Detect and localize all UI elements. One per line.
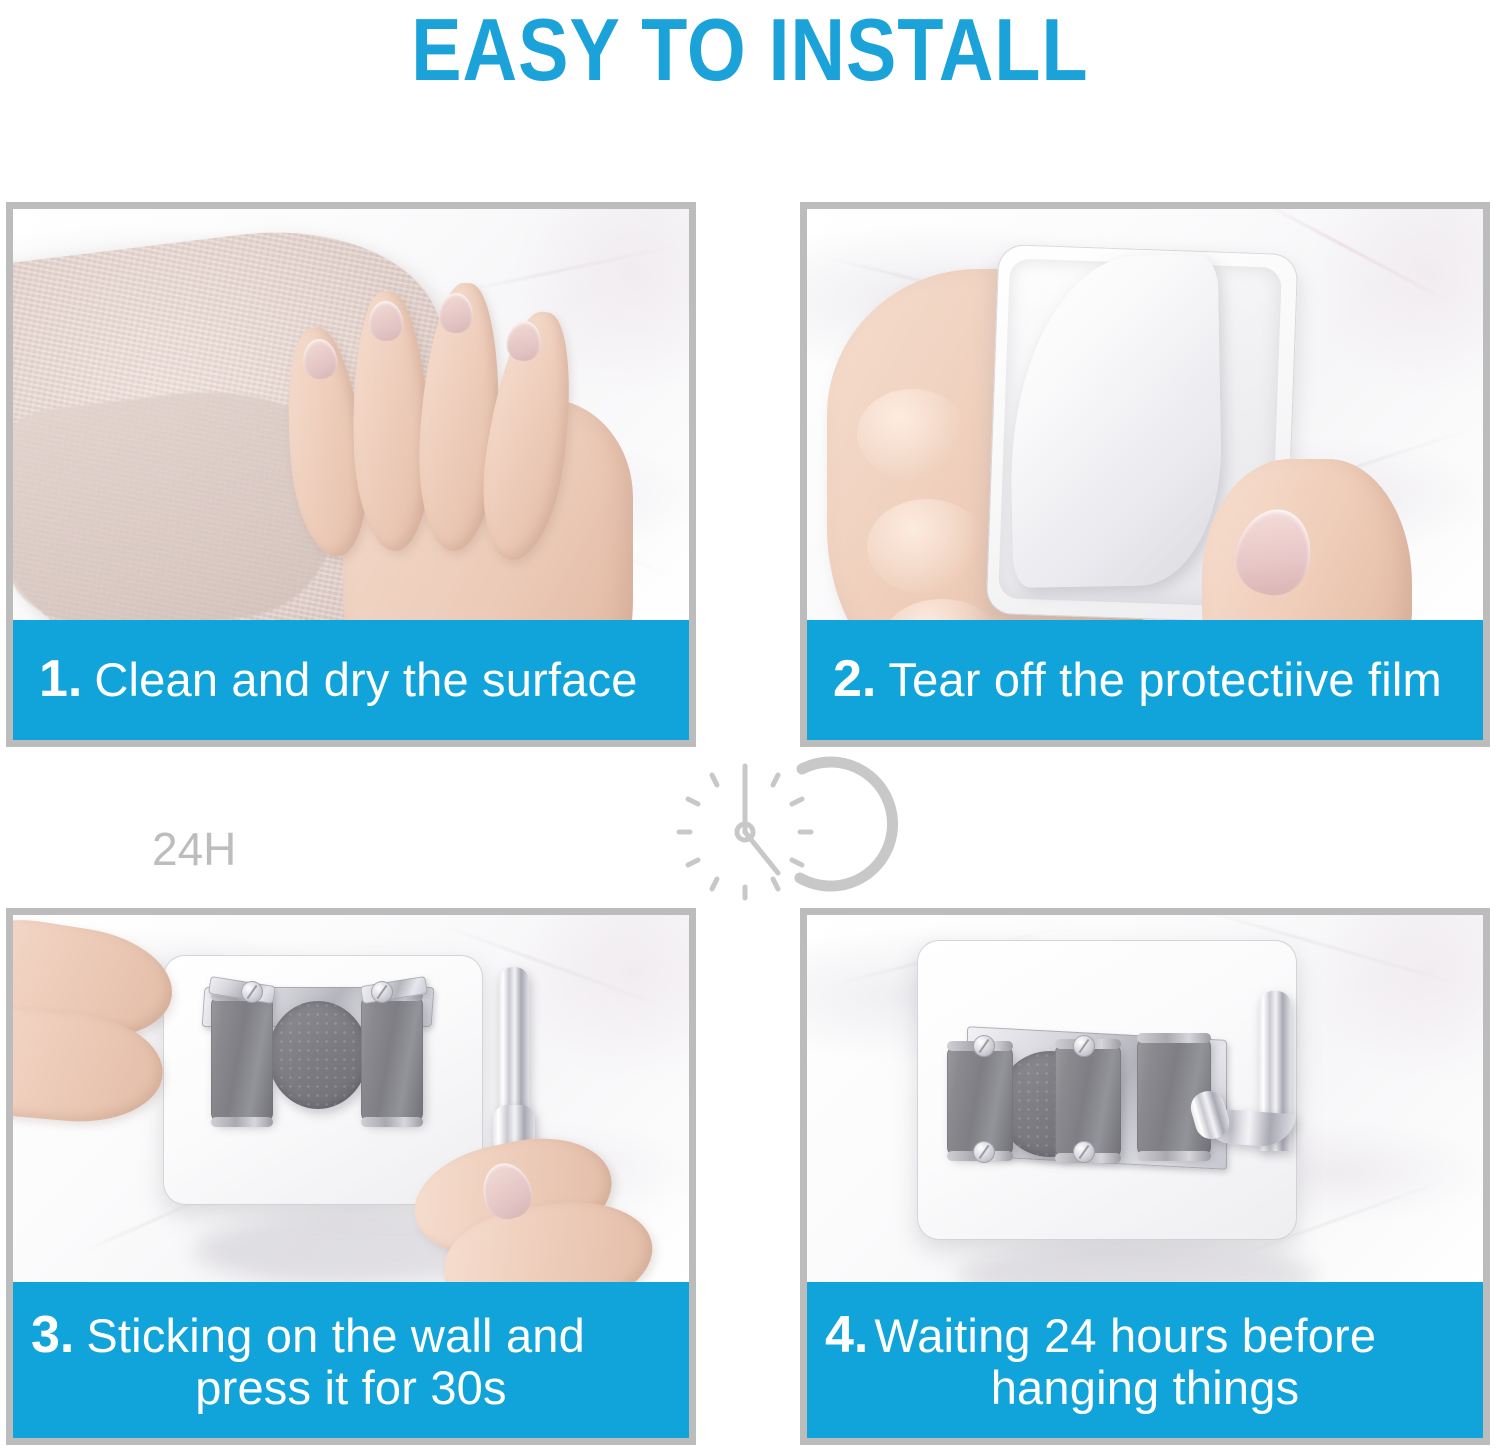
screw [973, 1035, 995, 1057]
step-4-image [807, 915, 1483, 1282]
step-1-image [13, 209, 689, 620]
knuckle [857, 389, 967, 479]
step-text: Clean and dry the surface [94, 655, 637, 705]
step-2-image [807, 209, 1483, 620]
clock-icon [650, 736, 900, 912]
step-3-image [13, 915, 689, 1282]
roller-cap [361, 1117, 423, 1127]
roller-cap [1137, 1033, 1211, 1043]
hand [193, 249, 633, 620]
screw [1073, 1141, 1095, 1163]
roller-right [361, 995, 423, 1123]
clock-duration-label: 24H [152, 822, 236, 876]
page-title-bar: EASY TO INSTALL [0, 0, 1500, 100]
step-text-line-2: press it for 30s [195, 1363, 506, 1413]
roller-left [211, 995, 273, 1123]
step-3-panel: 3. Sticking on the wall and press it for… [6, 908, 696, 1445]
step-number: 4. [825, 1308, 868, 1363]
step-2-caption: 2. Tear off the protectiive film [807, 620, 1483, 740]
knuckle [882, 599, 1002, 620]
screw [1073, 1035, 1095, 1057]
step-1-panel: 1. Clean and dry the surface [6, 202, 696, 747]
roller-cap [1137, 1151, 1211, 1161]
step-3-caption: 3. Sticking on the wall and press it for… [13, 1282, 689, 1438]
step-text-line-1: Sticking on the wall and [86, 1311, 585, 1361]
step-1-caption: 1. Clean and dry the surface [13, 620, 689, 740]
step-number: 1. [39, 652, 82, 707]
page-title: EASY TO INSTALL [411, 6, 1088, 94]
step-2-panel: 2. Tear off the protectiive film [800, 202, 1490, 747]
textured-grip-disc [268, 1001, 368, 1109]
screw [973, 1141, 995, 1163]
step-text-line-2: hanging things [991, 1363, 1300, 1413]
step-number: 2. [833, 652, 876, 707]
screw [371, 981, 393, 1003]
step-number: 3. [31, 1308, 74, 1363]
roller-cap [211, 1117, 273, 1127]
roller-left [947, 1045, 1013, 1157]
clock-badge [650, 736, 900, 912]
step-text: Tear off the protectiive film [888, 655, 1442, 705]
screw [241, 981, 263, 1003]
step-4-panel: 4. Waiting 24 hours before hanging thing… [800, 908, 1490, 1445]
step-text-line-1: Waiting 24 hours before [874, 1311, 1376, 1361]
knuckle [867, 499, 987, 594]
step-4-caption: 4. Waiting 24 hours before hanging thing… [807, 1282, 1483, 1438]
